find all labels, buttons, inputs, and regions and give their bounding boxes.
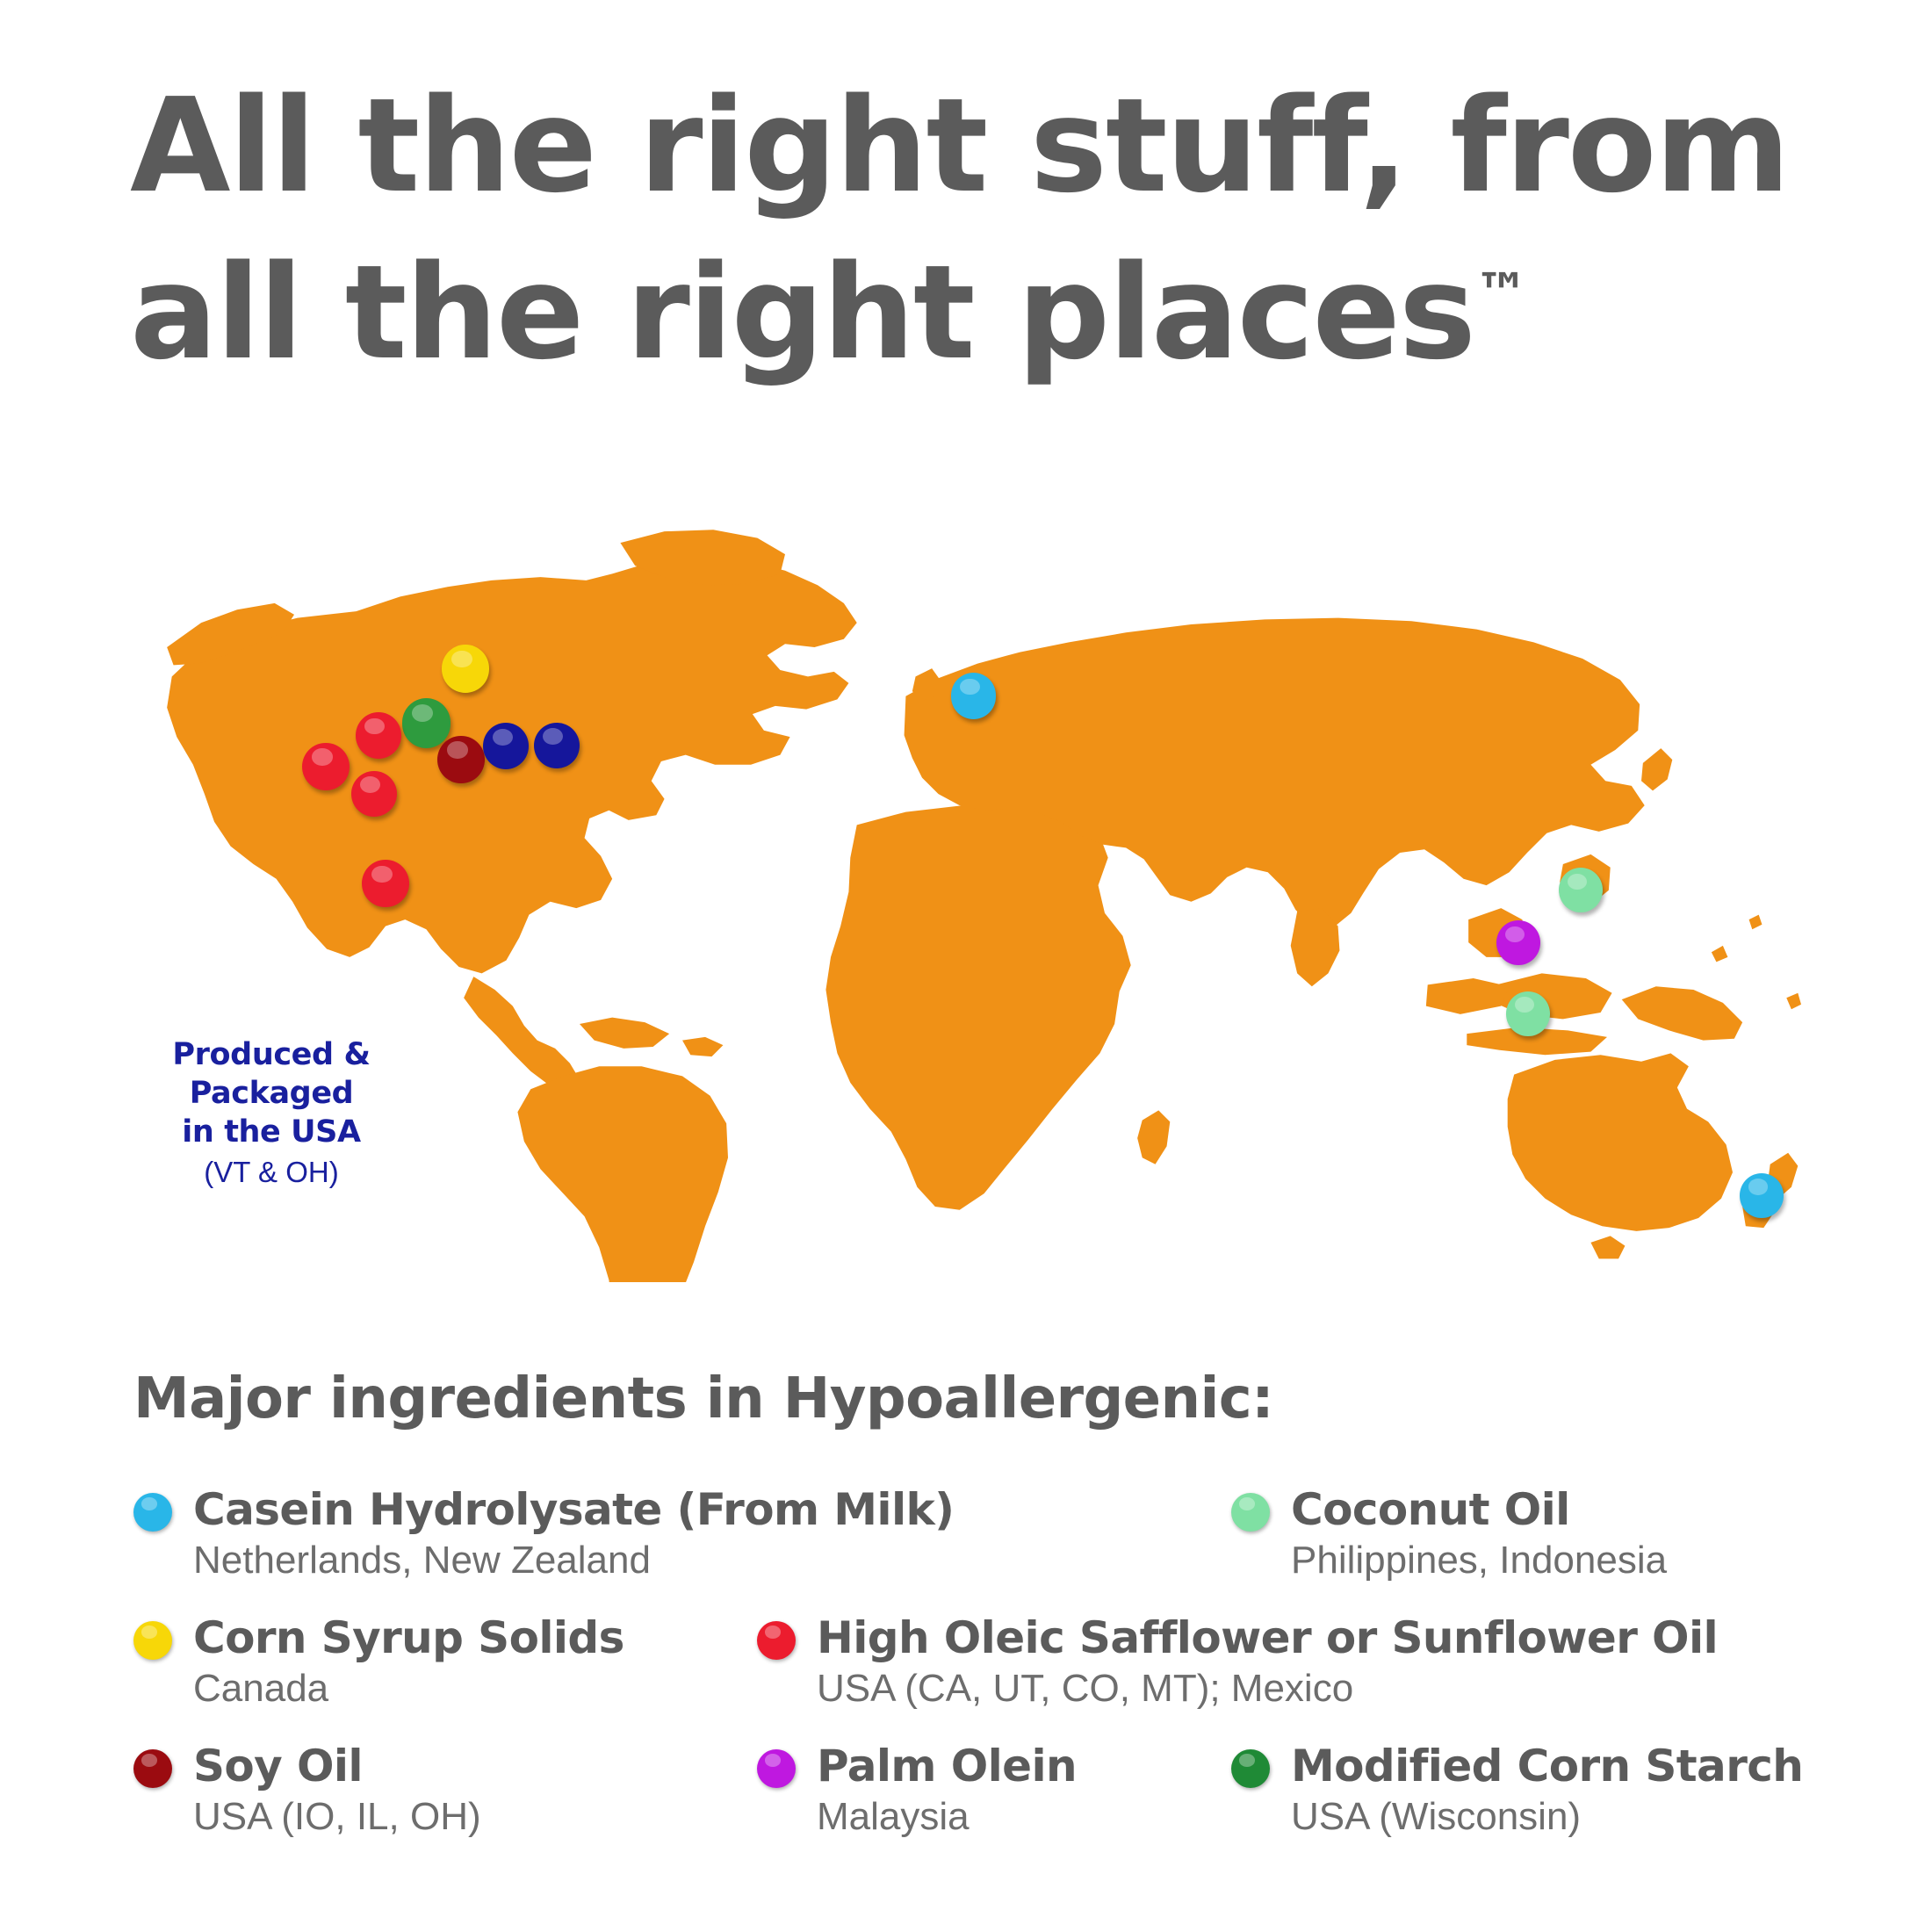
- map-pin-corn-syrup-canada: [442, 645, 489, 692]
- legend-text-block: Palm OleinMalaysia: [817, 1741, 1077, 1842]
- landmass-africa: [825, 805, 1130, 1210]
- badge-sublabel: (VT & OH): [204, 1151, 338, 1193]
- legend-ingredient-origin: Philippines, Indonesia: [1291, 1535, 1667, 1586]
- legend-color-dot-icon: [1231, 1493, 1270, 1532]
- legend-row: Corn Syrup SolidsCanadaHigh Oleic Safflo…: [133, 1612, 1828, 1741]
- produced-packaged-badge: Produced & Packaged in the USA (VT & OH): [117, 960, 426, 1269]
- legend-ingredient-name: Coconut Oil: [1291, 1484, 1667, 1535]
- landmass-japan: [1641, 748, 1672, 790]
- legend-ingredient-origin: Netherlands, New Zealand: [193, 1535, 954, 1586]
- legend-color-dot-icon: [757, 1621, 796, 1660]
- legend-ingredient-origin: Canada: [193, 1663, 624, 1714]
- landmass-island-2: [1749, 915, 1763, 930]
- badge-line-1: Produced &: [172, 1035, 370, 1074]
- map-pin-safflower-mexico: [362, 860, 409, 907]
- badge-inner-face: Produced & Packaged in the USA (VT & OH): [148, 991, 395, 1238]
- legend-item[interactable]: Coconut OilPhilippines, Indonesia: [1231, 1484, 1667, 1586]
- legend-item[interactable]: Casein Hydrolysate (From Milk)Netherland…: [133, 1484, 954, 1586]
- legend-ingredient-name: Corn Syrup Solids: [193, 1612, 624, 1663]
- landmass-cuba: [580, 1018, 669, 1049]
- legend-heading: Major ingredients in Hypoallergenic:: [133, 1366, 1273, 1431]
- legend-ingredient-origin: USA (CA, UT, CO, MT); Mexico: [817, 1663, 1718, 1714]
- legend-row: Casein Hydrolysate (From Milk)Netherland…: [133, 1484, 1828, 1612]
- landmass-island-3: [1712, 946, 1728, 962]
- legend-ingredient-origin: USA (Wisconsin): [1291, 1791, 1803, 1842]
- legend-item[interactable]: Modified Corn StarchUSA (Wisconsin): [1231, 1741, 1803, 1842]
- map-pin-casein-new-zealand: [1740, 1173, 1784, 1218]
- legend-color-dot-icon: [757, 1749, 796, 1788]
- legend-ingredient-origin: USA (IO, IL, OH): [193, 1791, 481, 1842]
- legend-item[interactable]: Palm OleinMalaysia: [757, 1741, 1077, 1842]
- legend-grid: Casein Hydrolysate (From Milk)Netherland…: [133, 1484, 1828, 1869]
- legend-ingredient-name: Palm Olein: [817, 1741, 1077, 1791]
- legend-row: Soy OilUSA (IO, IL, OH)Palm OleinMalaysi…: [133, 1741, 1828, 1869]
- legend-item[interactable]: Corn Syrup SolidsCanada: [133, 1612, 624, 1714]
- map-pin-casein-netherlands: [951, 673, 997, 719]
- landmass-central-america: [464, 977, 580, 1091]
- map-pin-palm-olein-malaysia: [1496, 920, 1540, 965]
- legend-color-dot-icon: [1231, 1749, 1270, 1788]
- title-line-1: All the right stuff, from: [130, 72, 1851, 220]
- legend-item[interactable]: Soy OilUSA (IO, IL, OH): [133, 1741, 481, 1842]
- landmass-tasmania: [1590, 1236, 1625, 1258]
- legend-ingredient-origin: Malaysia: [817, 1791, 1077, 1842]
- legend-text-block: Corn Syrup SolidsCanada: [193, 1612, 624, 1714]
- map-pin-safflower-usa-west-2: [302, 743, 350, 790]
- landmass-hispaniola: [682, 1037, 723, 1056]
- legend-ingredient-name: High Oleic Safflower or Sunflower Oil: [817, 1612, 1718, 1663]
- legend-item[interactable]: High Oleic Safflower or Sunflower OilUSA…: [757, 1612, 1718, 1714]
- legend-ingredient-name: Soy Oil: [193, 1741, 481, 1791]
- map-pin-packaged-ohio: [534, 723, 580, 769]
- map-pin-corn-starch-wisconsin: [402, 698, 451, 747]
- map-pin-safflower-usa-west-1: [356, 712, 401, 759]
- landmass-south-america: [517, 1066, 728, 1282]
- page-title: All the right stuff, from all the right …: [130, 72, 1851, 386]
- trademark-symbol: ™: [1474, 261, 1529, 325]
- legend-text-block: Modified Corn StarchUSA (Wisconsin): [1291, 1741, 1803, 1842]
- legend-color-dot-icon: [133, 1621, 172, 1660]
- map-pin-coconut-philippines: [1559, 868, 1603, 912]
- legend-ingredient-name: Casein Hydrolysate (From Milk): [193, 1484, 954, 1535]
- landmass-new-guinea: [1622, 986, 1742, 1040]
- landmass-australia: [1508, 1053, 1733, 1230]
- badge-line-3: in the USA: [182, 1113, 360, 1151]
- legend-color-dot-icon: [133, 1749, 172, 1788]
- legend-ingredient-name: Modified Corn Starch: [1291, 1741, 1803, 1791]
- map-pin-soy-oil-midwest: [437, 736, 485, 783]
- title-line-2: all the right places™: [130, 220, 1851, 386]
- legend-text-block: Coconut OilPhilippines, Indonesia: [1291, 1484, 1667, 1586]
- title-line-2-text: all the right places: [130, 237, 1474, 388]
- badge-line-2: Packaged: [190, 1074, 354, 1113]
- legend-text-block: High Oleic Safflower or Sunflower OilUSA…: [817, 1612, 1718, 1714]
- landmass-india: [1291, 908, 1340, 986]
- landmass-island-1: [1786, 993, 1801, 1010]
- legend-color-dot-icon: [133, 1493, 172, 1532]
- map-pin-safflower-usa-west-3: [351, 771, 397, 818]
- map-pin-packaged-vermont: [483, 723, 529, 769]
- legend-text-block: Soy OilUSA (IO, IL, OH): [193, 1741, 481, 1842]
- landmass-sumatra: [1426, 978, 1510, 1014]
- landmass-madagascar: [1137, 1110, 1170, 1164]
- map-pin-coconut-indonesia: [1506, 991, 1550, 1036]
- legend-text-block: Casein Hydrolysate (From Milk)Netherland…: [193, 1484, 954, 1586]
